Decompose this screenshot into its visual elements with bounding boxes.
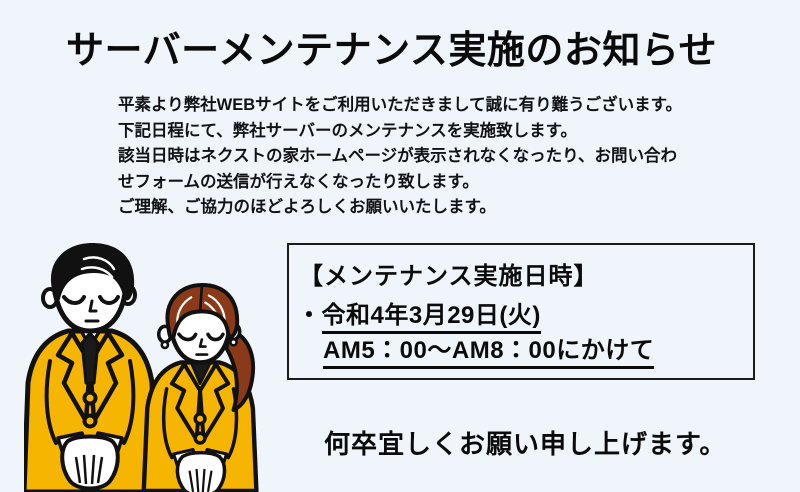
man-button-top bbox=[85, 393, 96, 404]
schedule-date-value: 令和4年3月29日(火) bbox=[322, 295, 541, 334]
body-paragraph: 平素より弊社WEBサイトをご利用いただきまして誠に有り難うございます。 下記日程… bbox=[118, 93, 682, 221]
woman-hands bbox=[177, 453, 224, 492]
man-hands bbox=[62, 437, 118, 489]
closing-line: 何卒宜しくお願い申し上げます。 bbox=[324, 424, 726, 461]
schedule-time-line: AM5：00～AM8：00にかけて bbox=[323, 330, 654, 369]
body-line-2: 下記日程にて、弊社サーバーのメンテナンスを実施致します。 bbox=[118, 119, 682, 145]
notice-poster: サーバーメンテナンス実施のお知らせ 平素より弊社WEBサイトをご利用いただきまし… bbox=[0, 0, 800, 492]
body-line-3: 該当日時はネクストの家ホームページが表示されなくなったり、お問い合わ bbox=[118, 144, 682, 170]
body-line-1: 平素より弊社WEBサイトをご利用いただきまして誠に有り難うございます。 bbox=[118, 93, 682, 119]
bowing-woman bbox=[144, 285, 257, 492]
schedule-date-line: ・令和4年3月29日(火) bbox=[297, 295, 541, 334]
schedule-heading: 【メンテナンス実施日時】 bbox=[299, 256, 599, 291]
woman-left-earring bbox=[162, 342, 168, 348]
man-button-bottom bbox=[85, 416, 96, 427]
schedule-box: 【メンテナンス実施日時】 ・令和4年3月29日(火) AM5：00～AM8：00… bbox=[287, 243, 755, 380]
woman-button-bottom bbox=[195, 433, 205, 443]
body-line-5: ご理解、ご協力のほどよろしくお願いいたします。 bbox=[118, 195, 682, 221]
body-line-4: せフォームの送信が行えなくなったり致します。 bbox=[118, 170, 682, 196]
bullet-icon: ・ bbox=[297, 295, 322, 330]
woman-right-earring bbox=[230, 339, 236, 345]
bowing-man bbox=[24, 243, 156, 492]
woman-button-top bbox=[195, 414, 205, 424]
bowing-people-illustration bbox=[24, 243, 286, 492]
page-title: サーバーメンテナンス実施のお知らせ bbox=[66, 30, 717, 74]
schedule-time-value: AM5：00～AM8：00にかけて bbox=[323, 330, 654, 369]
woman-hair-part bbox=[200, 287, 202, 312]
man-tie bbox=[82, 333, 98, 383]
